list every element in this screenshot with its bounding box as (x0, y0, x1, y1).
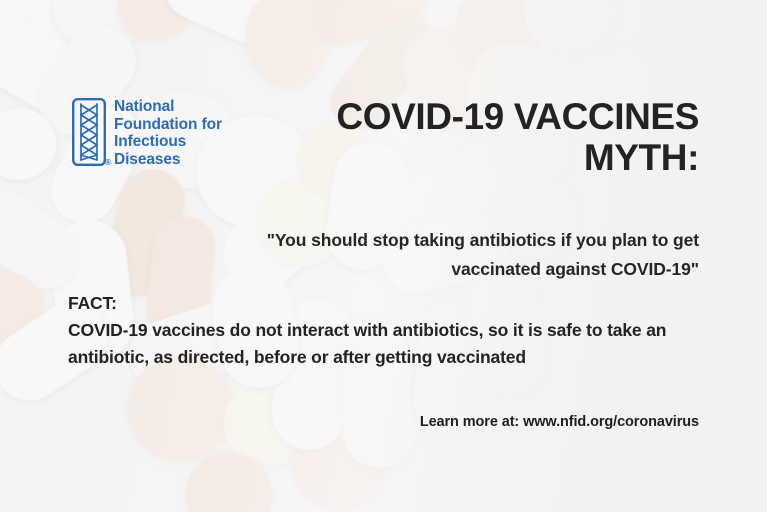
nfid-covid-myth-poster: ® National Foundation for Infectious Dis… (0, 0, 767, 512)
headline-line-1: COVID-19 VACCINES (269, 96, 699, 137)
myth-quote-line-2: vaccinated against COVID-19" (179, 255, 699, 284)
headline-line-2: MYTH: (269, 137, 699, 178)
fact-block: FACT: COVID-19 vaccines do not interact … (68, 290, 732, 371)
nfid-logo-line-4: Diseases (114, 151, 222, 169)
nfid-logo: ® National Foundation for Infectious Dis… (72, 98, 222, 168)
page-title: COVID-19 VACCINES MYTH: (269, 96, 699, 178)
fact-label: FACT: (68, 290, 732, 317)
fact-body: COVID-19 vaccines do not interact with a… (68, 317, 732, 371)
nfid-logo-line-2: Foundation for (114, 116, 222, 134)
nfid-logo-line-3: Infectious (114, 133, 222, 151)
myth-quote: "You should stop taking antibiotics if y… (179, 226, 699, 284)
nfid-logo-line-1: National (114, 98, 222, 116)
myth-quote-line-1: "You should stop taking antibiotics if y… (179, 226, 699, 255)
learn-more-link[interactable]: Learn more at: www.nfid.org/coronavirus (420, 414, 699, 430)
fact-body-line-1: COVID-19 vaccines do not interact with a… (68, 320, 642, 340)
dna-helix-icon (72, 98, 106, 166)
registered-trademark-symbol: ® (105, 159, 111, 167)
nfid-logo-wordmark: ® National Foundation for Infectious Dis… (114, 98, 222, 168)
